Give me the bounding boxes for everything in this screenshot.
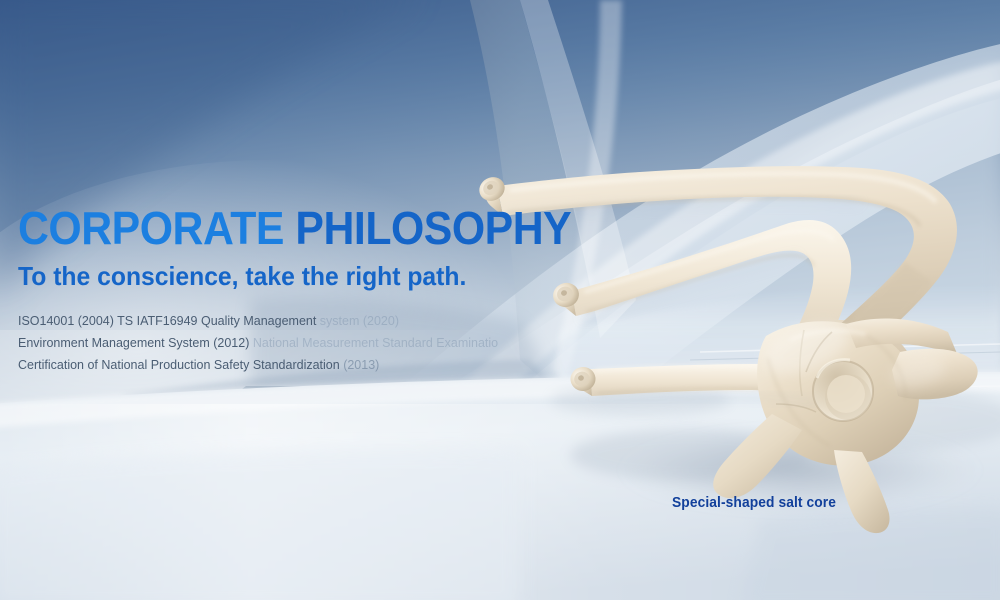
certification-line-2: Environment Management System (2012) Nat…: [18, 332, 618, 354]
philosophy-text-block: CORPORATE PHILOSOPHY To the conscience, …: [18, 205, 618, 376]
headline-word-philosophy: PHILOSOPHY: [295, 202, 571, 254]
certification-line-3: Certification of National Production Saf…: [18, 354, 618, 376]
corporate-philosophy-banner: CORPORATE PHILOSOPHY To the conscience, …: [0, 0, 1000, 600]
page-title: CORPORATE PHILOSOPHY: [18, 205, 576, 251]
cert-2-faded: National Measurement Standard Examinatio: [249, 336, 498, 350]
tagline: To the conscience, take the right path.: [18, 262, 588, 291]
cert-3-faded: (2013): [343, 358, 379, 372]
headline-word-corporate: CORPORATE: [18, 202, 284, 254]
certification-line-1: ISO14001 (2004) TS IATF16949 Quality Man…: [18, 310, 618, 332]
certification-list: ISO14001 (2004) TS IATF16949 Quality Man…: [18, 310, 618, 376]
cert-1-faded: system (2020): [320, 314, 399, 328]
product-caption: Special-shaped salt core: [672, 494, 836, 511]
cert-3-visible: Certification of National Production Saf…: [18, 358, 343, 372]
cert-2-visible: Environment Management System (2012): [18, 336, 249, 350]
cert-1-visible: ISO14001 (2004) TS IATF16949 Quality Man…: [18, 314, 320, 328]
